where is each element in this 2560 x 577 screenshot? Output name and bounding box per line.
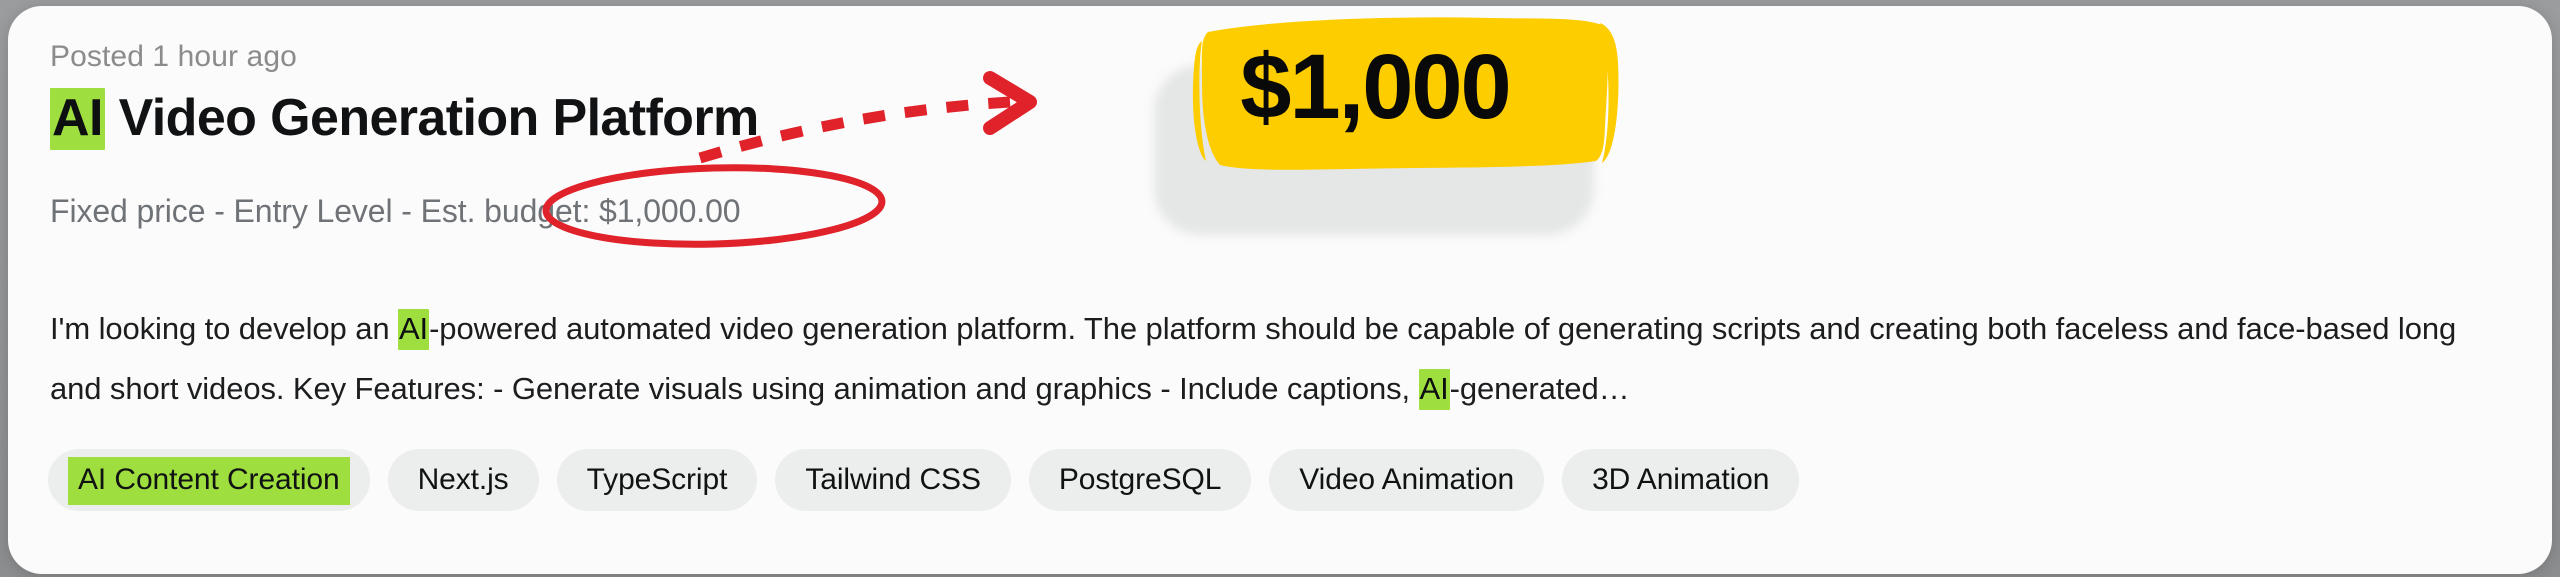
skill-tag[interactable]: Next.js <box>388 449 539 511</box>
posted-timestamp: Posted 1 hour ago <box>50 40 297 74</box>
screenshot-root: Posted 1 hour ago AI Video Generation Pl… <box>0 0 2560 577</box>
skill-tag[interactable]: AI Content Creation <box>48 449 370 511</box>
description-part-3: -generated… <box>1450 371 1630 406</box>
skill-tag-list: AI Content CreationNext.jsTypeScriptTail… <box>48 449 1799 511</box>
description-highlight-ai-1: AI <box>398 309 429 350</box>
title-highlight-ai: AI <box>50 88 105 150</box>
pricing-summary: Fixed price - Entry Level - Est. budget:… <box>50 193 741 230</box>
skill-tag-label: PostgreSQL <box>1059 463 1221 497</box>
skill-tag-label: TypeScript <box>587 463 728 497</box>
job-posting-card[interactable]: Posted 1 hour ago AI Video Generation Pl… <box>8 6 2552 574</box>
skill-tag-label: Video Animation <box>1299 463 1514 497</box>
skill-tag-label: AI Content Creation <box>68 457 350 505</box>
skill-tag-label: 3D Animation <box>1592 463 1769 497</box>
skill-tag[interactable]: PostgreSQL <box>1029 449 1251 511</box>
skill-tag-label: Tailwind CSS <box>805 463 981 497</box>
skill-tag[interactable]: TypeScript <box>557 449 758 511</box>
title-rest: Video Generation Platform <box>105 89 759 147</box>
description-highlight-ai-2: AI <box>1419 369 1450 410</box>
description-part-1: I'm looking to develop an <box>50 311 398 346</box>
skill-tag[interactable]: Video Animation <box>1269 449 1544 511</box>
skill-tag-label: Next.js <box>418 463 509 497</box>
job-title[interactable]: AI Video Generation Platform <box>50 92 759 144</box>
skill-tag[interactable]: 3D Animation <box>1562 449 1799 511</box>
skill-tag[interactable]: Tailwind CSS <box>775 449 1011 511</box>
job-description: I'm looking to develop an AI-powered aut… <box>50 299 2500 419</box>
job-card-content: Posted 1 hour ago AI Video Generation Pl… <box>8 6 2552 574</box>
